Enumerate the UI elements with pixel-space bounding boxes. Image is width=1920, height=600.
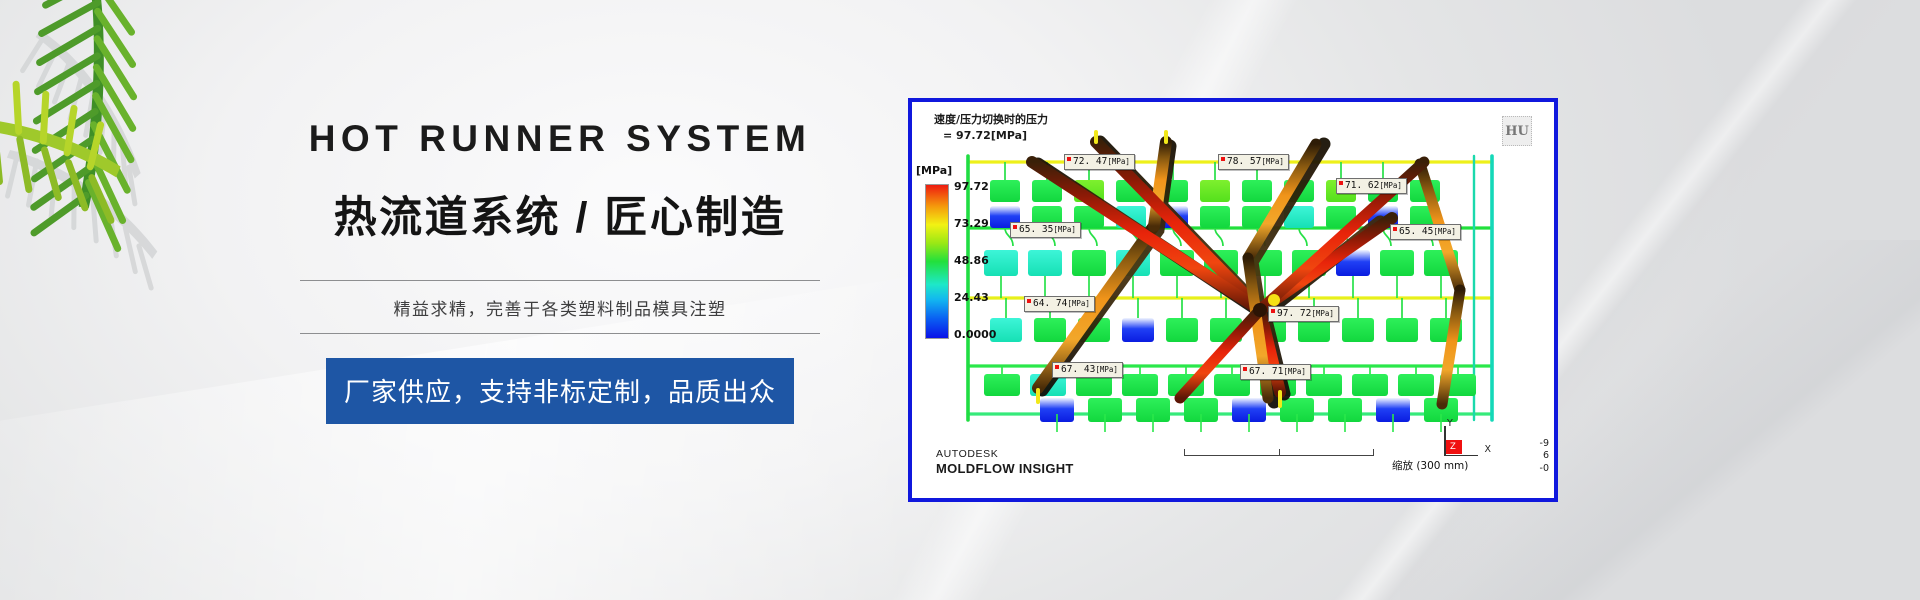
hero-copy: HOT RUNNER SYSTEM 热流道系统 / 匠心制造 精益求精，完善于各… — [300, 120, 820, 424]
pressure-callout[interactable]: 67. 71[MPa] — [1240, 364, 1311, 380]
tagline: 精益求精，完善于各类塑料制品模具注塑 — [300, 281, 820, 333]
pressure-callout-center[interactable]: 97. 72[MPa] — [1268, 306, 1339, 322]
colorbar-tick-3: 24.43 — [954, 291, 989, 304]
pressure-callout[interactable]: 72. 47[MPa] — [1064, 154, 1135, 170]
subtitle-block: 精益求精，完善于各类塑料制品模具注塑 — [300, 280, 820, 334]
figure-title-line1: 速度/压力切换时的压力 — [934, 112, 1048, 128]
edge-numbers: -96-0 — [1540, 438, 1549, 476]
scale-bar-midtick — [1279, 449, 1280, 456]
moldflow-insight-wordmark: MOLDFLOW INSIGHT — [936, 461, 1074, 476]
pressure-callout[interactable]: 78. 57[MPa] — [1218, 154, 1289, 170]
pressure-callout[interactable]: 71. 62[MPa] — [1336, 178, 1407, 194]
pressure-callout[interactable]: 65. 45[MPa] — [1390, 224, 1461, 240]
colorbar-tick-2: 48.86 — [954, 254, 989, 267]
axis-label-x: X — [1484, 444, 1491, 455]
axis-label-y: Y — [1447, 418, 1453, 429]
page-title: HOT RUNNER SYSTEM — [300, 120, 820, 157]
autodesk-wordmark: AUTODESK — [936, 448, 1074, 460]
hero-banner: HOT RUNNER SYSTEM 热流道系统 / 匠心制造 精益求精，完善于各… — [0, 0, 1920, 600]
pressure-callout[interactable]: 65. 35[MPa] — [1010, 222, 1081, 238]
page-subtitle-cn: 热流道系统 / 匠心制造 — [300, 197, 820, 240]
palm-leaf-icon — [0, 0, 300, 330]
colorbar-tick-4: 0.0000 — [954, 328, 996, 341]
colorbar-tick-1: 73.29 — [954, 217, 989, 230]
divider-bottom — [300, 333, 820, 334]
autodesk-moldflow-logo: AUTODESK MOLDFLOW INSIGHT — [936, 448, 1074, 476]
scale-bar: 缩放 (300 mm) — [1184, 449, 1374, 471]
hu-watermark-icon: HU — [1502, 116, 1532, 146]
figure-title: 速度/压力切换时的压力 = 97.72[MPa] — [934, 112, 1048, 144]
axis-label-z: Z — [1450, 442, 1456, 452]
colorbar-tick-0: 97.72 — [954, 180, 989, 193]
cta-badge[interactable]: 厂家供应，支持非标定制，品质出众 — [326, 358, 794, 424]
moldflow-analysis-figure[interactable]: 速度/压力切换时的压力 = 97.72[MPa] [MPa] 97.72 73.… — [908, 98, 1558, 502]
axis-triad-icon: Y X Z — [1434, 418, 1490, 468]
colorbar-unit-label: [MPa] — [916, 164, 952, 177]
figure-title-line2: = 97.72[MPa] — [934, 128, 1048, 144]
pressure-callout[interactable]: 67. 43[MPa] — [1052, 362, 1123, 378]
axis-x-line — [1444, 455, 1478, 457]
pressure-callout[interactable]: 64. 74[MPa] — [1024, 296, 1095, 312]
pressure-colorbar — [925, 184, 949, 339]
